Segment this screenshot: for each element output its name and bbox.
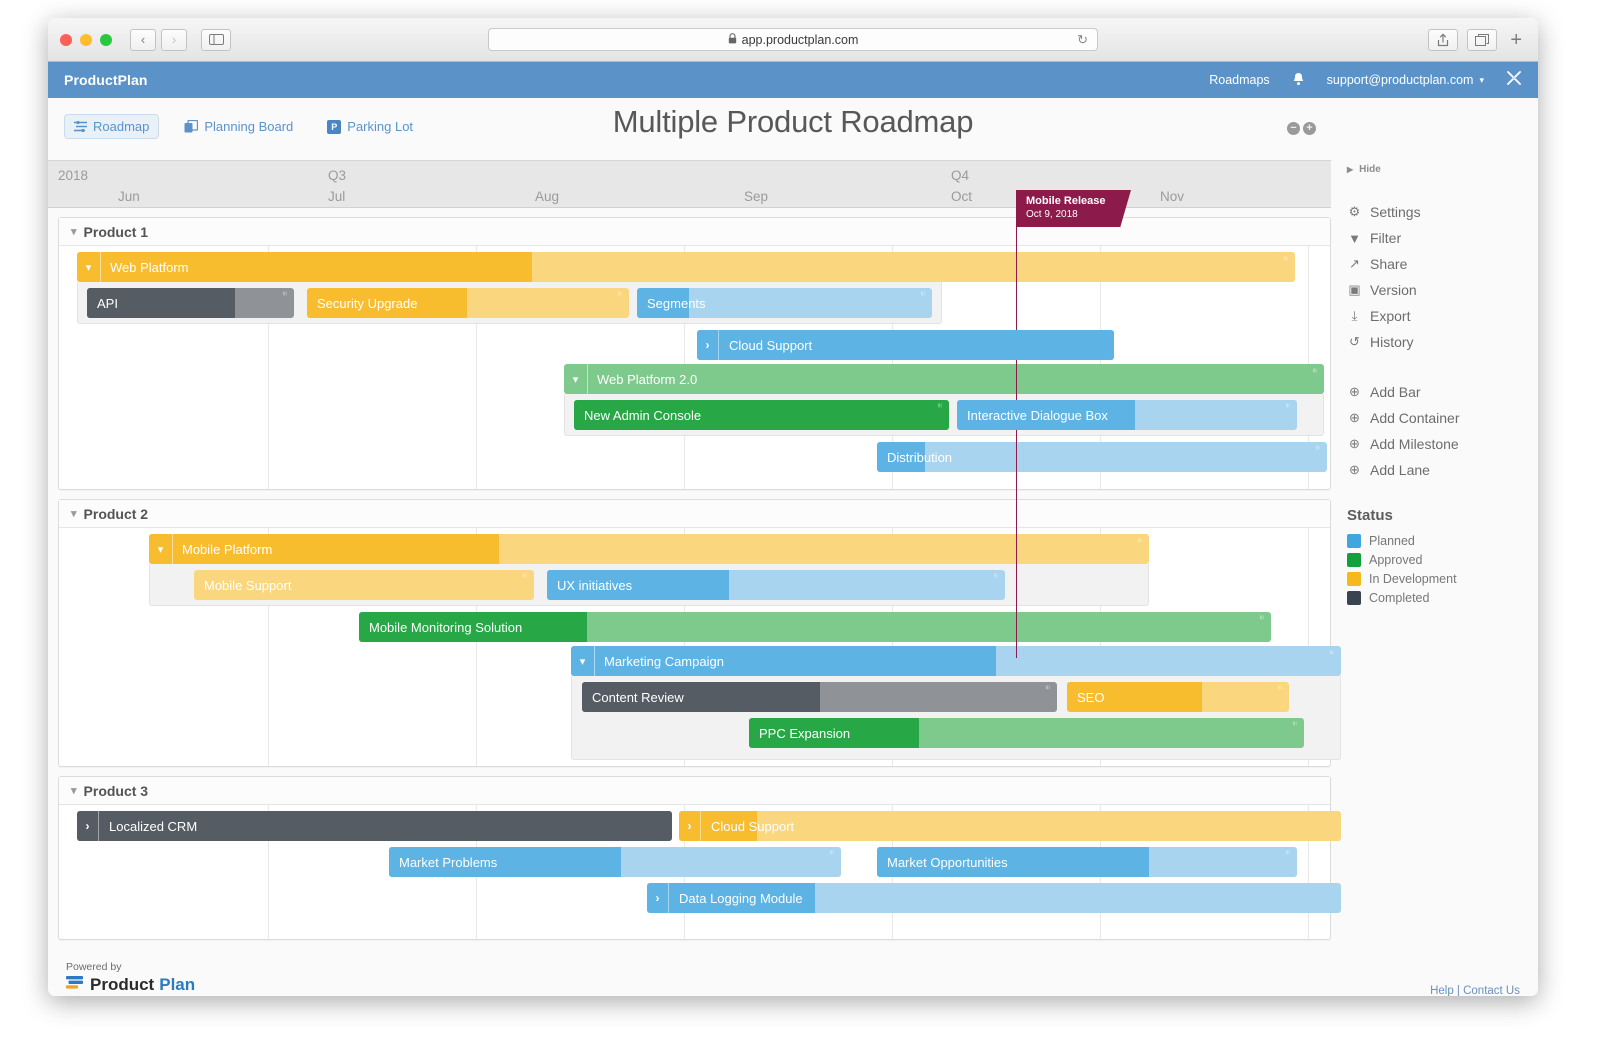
drag-handle-icon[interactable]: ≡ [1258,615,1265,620]
sidebar-item-history[interactable]: ↺History [1347,329,1538,355]
roadmap-bar[interactable]: Interactive Dialogue Box≡ [957,400,1297,430]
status-color-swatch [1347,591,1361,605]
bar-label: New Admin Console [574,408,701,423]
bar-label: UX initiatives [547,578,632,593]
address-bar[interactable]: app.productplan.com ↻ [488,28,1098,51]
timeline-month-jul: Jul [328,189,345,204]
window-controls [60,34,112,46]
drag-handle-icon[interactable]: ≡ [992,573,999,578]
drag-handle-icon[interactable]: ≡ [1282,256,1289,261]
timeline-month-nov: Nov [1160,189,1184,204]
right-sidebar: ▶ Hide ⚙Settings▼Filter↗Share▣Version⤓Ex… [1331,160,1538,949]
sidebar-toggle-icon[interactable] [201,29,231,51]
container-collapse-icon[interactable]: ▾ [77,252,101,282]
lane-product-1: ▾Product 1▾Web Platform≡API≡Security Upg… [58,217,1331,490]
export-icon: ⤓ [1347,308,1362,324]
status-legend-in-development[interactable]: In Development [1347,569,1538,588]
bar-label: Segments [637,296,706,311]
milestone-flag: Mobile Release Oct 9, 2018 [1016,190,1120,227]
zoom-out-button[interactable]: − [1287,122,1300,135]
sidebar-item-share[interactable]: ↗Share [1347,251,1538,277]
roadmap-bar[interactable]: Mobile Monitoring Solution≡ [359,612,1271,642]
logo-product-text: Product [90,975,154,995]
lock-icon [728,33,737,47]
sidebar-item-label: Add Container [1370,410,1460,426]
container-collapse-icon[interactable]: ▾ [564,364,588,394]
status-color-swatch [1347,572,1361,586]
milestone-date: Oct 9, 2018 [1026,208,1110,221]
account-menu[interactable]: support@productplan.com ▾ [1327,73,1484,87]
drag-handle-icon[interactable]: ≡ [1291,721,1298,726]
browser-window: ‹ › app.productplan.com ↻ + ProductPlan [48,18,1538,996]
roadmap-bar[interactable]: Segments≡ [637,288,932,318]
sidebar-action-add-container[interactable]: ⊕Add Container [1347,405,1538,431]
roadmap-bar[interactable]: ›Data Logging Module [647,883,1341,913]
sidebar-item-label: Share [1370,256,1407,272]
hide-sidebar-button[interactable]: ▶ Hide [1347,164,1538,175]
roadmap-bar[interactable]: Market Opportunities≡ [877,847,1297,877]
roadmap-bar[interactable]: SEO≡ [1067,682,1289,712]
account-email: support@productplan.com [1327,73,1474,87]
bar-label: Security Upgrade [307,296,417,311]
container-label: Mobile Platform [173,542,272,557]
milestone-mobile-release[interactable]: Mobile Release Oct 9, 2018 [1016,190,1120,227]
timeline-quarter-q4: Q4 [951,168,969,183]
minimize-window-button[interactable] [80,34,92,46]
drag-handle-icon[interactable]: ≡ [1284,403,1291,408]
container-bar[interactable]: ▾Web Platform≡ [77,252,1295,282]
drag-handle-icon[interactable]: ≡ [828,850,835,855]
new-tab-button[interactable]: + [1506,30,1526,50]
sidebar-add-actions: ⊕Add Bar⊕Add Container⊕Add Milestone⊕Add… [1347,379,1538,483]
roadmap-bar[interactable]: Distribution≡ [877,442,1327,472]
status-legend-planned[interactable]: Planned [1347,531,1538,550]
zoom-controls: − + [1287,122,1316,135]
page-footer: Powered by ProductPlan Help | Contact Us [48,949,1538,996]
status-legend-items: PlannedApprovedIn DevelopmentCompleted [1347,531,1538,607]
gear-icon: ⚙ [1347,204,1362,220]
container-collapse-icon[interactable]: ▾ [149,534,173,564]
roadmap-bar[interactable]: Content Review≡ [582,682,1057,712]
bar-label: Market Problems [389,855,497,870]
container-label: Web Platform 2.0 [588,372,697,387]
bar-label: PPC Expansion [749,726,850,741]
container-label: Marketing Campaign [595,654,724,669]
timeline-month-oct: Oct [951,189,972,204]
productplan-logo: ProductPlan [66,975,1520,995]
sidebar-action-add-lane[interactable]: ⊕Add Lane [1347,457,1538,483]
app-logo[interactable]: ProductPlan [64,72,148,88]
timeline-quarter-q3: Q3 [328,168,346,183]
add-lane-icon: ⊕ [1347,462,1362,478]
sidebar-item-label: Export [1370,308,1410,324]
drag-handle-icon[interactable]: ≡ [919,291,926,296]
container-bar[interactable]: ▾Web Platform 2.0≡ [564,364,1324,394]
roadmap-bar[interactable]: API≡ [87,288,294,318]
roadmap-canvas: 2018Q3Q4JunJulAugSepOctNovD ▾Product 1▾W… [48,160,1331,949]
container-collapse-icon[interactable]: ▾ [571,646,595,676]
footer-links: Help | Contact Us [1430,985,1520,996]
roadmap-bar[interactable]: PPC Expansion≡ [749,718,1304,748]
timeline-year: 2018 [58,168,88,183]
container-bar[interactable]: ▾Mobile Platform≡ [149,534,1149,564]
drag-handle-icon[interactable]: ≡ [1136,538,1143,543]
share-button[interactable] [1428,29,1458,51]
drag-handle-icon[interactable]: ≡ [616,291,623,296]
fullscreen-toggle-icon[interactable] [1506,70,1522,90]
drag-handle-icon[interactable]: ≡ [1276,685,1283,690]
lane-header[interactable]: ▾Product 3 [59,777,1330,805]
sidebar-item-version[interactable]: ▣Version [1347,277,1538,303]
lane-header[interactable]: ▾Product 1 [59,218,1330,246]
page-split: 2018Q3Q4JunJulAugSepOctNovD ▾Product 1▾W… [48,160,1538,949]
status-legend: Status PlannedApprovedIn DevelopmentComp… [1347,507,1538,607]
roadmap-bar[interactable]: Market Problems≡ [389,847,841,877]
sidebar-action-add-milestone[interactable]: ⊕Add Milestone [1347,431,1538,457]
contact-us-link[interactable]: Contact Us [1463,985,1520,996]
version-icon: ▣ [1347,282,1362,298]
status-legend-approved[interactable]: Approved [1347,550,1538,569]
drag-handle-icon[interactable]: ≡ [1284,850,1291,855]
status-legend-title: Status [1347,507,1538,524]
sidebar-item-label: Add Bar [1370,384,1421,400]
footer-separator: | [1454,985,1463,996]
lane-body: ▾Mobile Platform≡Mobile Support≡UX initi… [59,528,1330,766]
history-icon: ↺ [1347,334,1362,350]
lane-product-2: ▾Product 2▾Mobile Platform≡Mobile Suppor… [58,499,1331,767]
roadmap-bar[interactable]: Security Upgrade≡ [307,288,629,318]
status-label: Approved [1369,553,1423,567]
status-legend-completed[interactable]: Completed [1347,588,1538,607]
chrome-right-controls: + [1428,29,1526,51]
back-button[interactable]: ‹ [130,29,156,51]
add-milestone-icon: ⊕ [1347,436,1362,452]
sidebar-item-label: Add Milestone [1370,436,1459,452]
chevron-down-icon[interactable]: ▾ [71,225,77,238]
app-header-right: Roadmaps support@productplan.com ▾ [1209,70,1522,90]
lane-body: ▾Web Platform≡API≡Security Upgrade≡Segme… [59,246,1330,489]
bar-label: Cloud Support [719,338,812,353]
filter-icon: ▼ [1347,231,1362,246]
sidebar-item-label: Settings [1370,204,1421,220]
roadmap-bar[interactable]: New Admin Console≡ [574,400,949,430]
bar-label: Content Review [582,690,684,705]
lane-title: Product 2 [84,506,149,522]
timeline-month-jun: Jun [118,189,140,204]
url-text: app.productplan.com [742,33,859,47]
roadmap-bar[interactable]: ›Cloud Support [679,811,1341,841]
caret-right-icon: ▶ [1347,165,1353,174]
roadmap-bar[interactable]: ›Cloud Support [697,330,1114,360]
lane-title: Product 1 [84,224,149,240]
drag-handle-icon[interactable]: ≡ [936,403,943,408]
bar-label: Mobile Monitoring Solution [359,620,522,635]
status-color-swatch [1347,553,1361,567]
bar-label: Data Logging Module [669,891,803,906]
container-expand-icon[interactable]: › [77,811,99,841]
roadmap-page: Roadmap Planning Board P Parking Lot Mul… [48,98,1538,996]
roadmaps-link[interactable]: Roadmaps [1209,73,1269,87]
roadmap-bar[interactable]: UX initiatives≡ [547,570,1005,600]
container-expand-icon[interactable]: › [697,330,719,360]
container-expand-icon[interactable]: › [679,811,701,841]
sidebar-item-label: Add Lane [1370,462,1430,478]
add-container-icon: ⊕ [1347,410,1362,426]
lane-title: Product 3 [84,783,149,799]
notification-bell-icon[interactable] [1292,72,1305,89]
page-toolbar: Roadmap Planning Board P Parking Lot Mul… [48,98,1538,160]
sidebar-tools: ⚙Settings▼Filter↗Share▣Version⤓Export↺Hi… [1347,199,1538,355]
nav-buttons: ‹ › [130,29,187,51]
bar-label: Distribution [877,450,952,465]
status-label: Completed [1369,591,1429,605]
logo-plan-text: Plan [159,975,195,995]
sidebar-action-add-bar[interactable]: ⊕Add Bar [1347,379,1538,405]
bar-label: SEO [1067,690,1104,705]
zoom-in-button[interactable]: + [1303,122,1316,135]
bar-label: Market Opportunities [877,855,1008,870]
sidebar-item-label: Filter [1370,230,1401,246]
chevron-down-icon[interactable]: ▾ [71,784,77,797]
bar-label: API [87,296,118,311]
browser-toolbar: ‹ › app.productplan.com ↻ + [48,18,1538,62]
show-tabs-button[interactable] [1467,29,1497,51]
milestone-title: Mobile Release [1026,195,1110,208]
status-label: Planned [1369,534,1415,548]
chevron-down-icon: ▾ [1479,75,1484,86]
drag-handle-icon[interactable]: ≡ [1328,650,1335,655]
share-icon: ↗ [1347,256,1362,272]
sidebar-item-export[interactable]: ⤓Export [1347,303,1538,329]
drag-handle-icon[interactable]: ≡ [1311,368,1318,373]
timeline-header: 2018Q3Q4JunJulAugSepOctNovD [48,160,1331,208]
forward-button[interactable]: › [161,29,187,51]
reload-icon[interactable]: ↻ [1077,32,1088,48]
close-window-button[interactable] [60,34,72,46]
container-label: Web Platform [101,260,189,275]
roadmap-bar[interactable]: Mobile Support≡ [194,570,534,600]
sidebar-item-settings[interactable]: ⚙Settings [1347,199,1538,225]
container-bar[interactable]: ▾Marketing Campaign≡ [571,646,1341,676]
status-color-swatch [1347,534,1361,548]
timeline-month-sep: Sep [744,189,768,204]
roadmap-bar[interactable]: ›Localized CRM [77,811,672,841]
drag-handle-icon[interactable]: ≡ [281,291,288,296]
bar-label: Mobile Support [194,578,291,593]
swimlanes: ▾Product 1▾Web Platform≡API≡Security Upg… [48,208,1331,940]
container-expand-icon[interactable]: › [647,883,669,913]
sidebar-item-label: Version [1370,282,1417,298]
status-label: In Development [1369,572,1457,586]
chevron-down-icon[interactable]: ▾ [71,507,77,520]
app-header: ProductPlan Roadmaps support@productplan… [48,62,1538,98]
help-link[interactable]: Help [1430,985,1454,996]
sidebar-item-label: History [1370,334,1414,350]
powered-by-label: Powered by [66,961,1520,973]
bar-label: Cloud Support [701,819,794,834]
lane-body: ›Localized CRM›Cloud SupportMarket Probl… [59,805,1330,939]
add-bar-icon: ⊕ [1347,384,1362,400]
hide-label: Hide [1359,164,1381,175]
productplan-mark-icon [66,975,85,995]
maximize-window-button[interactable] [100,34,112,46]
lane-product-3: ▾Product 3›Localized CRM›Cloud SupportMa… [58,776,1331,940]
bar-label: Localized CRM [99,819,197,834]
drag-handle-icon[interactable]: ≡ [1044,685,1051,690]
sidebar-item-filter[interactable]: ▼Filter [1347,225,1538,251]
lane-header[interactable]: ▾Product 2 [59,500,1330,528]
timeline-month-aug: Aug [535,189,559,204]
bar-label: Interactive Dialogue Box [957,408,1108,423]
drag-handle-icon[interactable]: ≡ [521,573,528,578]
drag-handle-icon[interactable]: ≡ [1314,445,1321,450]
